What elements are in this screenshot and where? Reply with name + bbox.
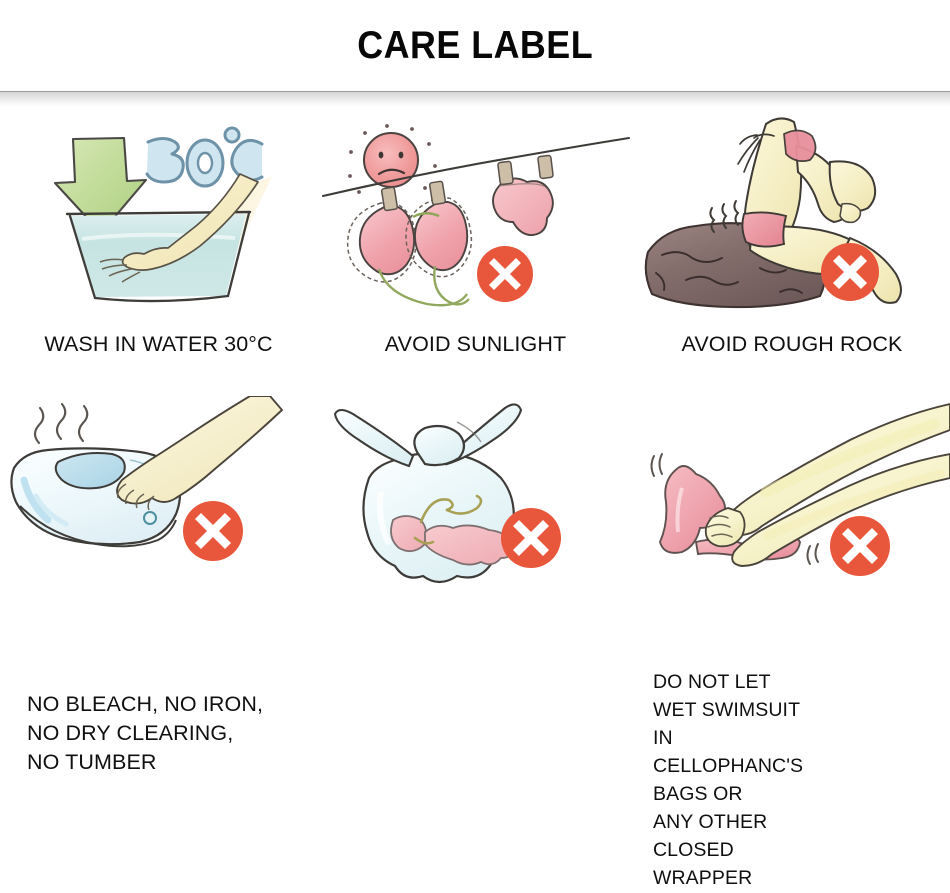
panel-let-dry-naturally: LET DRY NATURALLY & AWAYS FROM HEAT SOUR… — [634, 396, 950, 686]
panel-let-dry-naturally-art — [634, 396, 950, 596]
page-header: CARE LABEL — [0, 0, 950, 92]
prohibition-x-icon — [821, 243, 879, 301]
panel-avoid-rough-rock: AVOID ROUGH ROCK — [634, 106, 950, 396]
panel-no-bleach-no-iron-art — [0, 396, 317, 596]
bikini-bottom-icon — [493, 155, 553, 235]
panel-no-bleach-no-iron: NO BLEACH, NO IRON, NO DRY CLEARING, NO … — [0, 396, 317, 686]
panel-no-wet-swimsuit-in-bag-caption: DO NOT LET WET SWIMSUIT IN CELLOPHANC'S … — [653, 668, 803, 892]
page-title: CARE LABEL — [357, 24, 593, 68]
care-instruction-grid: WASH IN WATER 30°C — [0, 106, 950, 686]
panel-avoid-sunlight-art — [317, 106, 634, 328]
panel-no-bleach-no-iron-caption: NO BLEACH, NO IRON, NO DRY CLEARING, NO … — [27, 690, 263, 777]
panel-avoid-sunlight: AVOID SUNLIGHT — [317, 106, 634, 396]
panel-avoid-sunlight-caption: AVOID SUNLIGHT — [317, 330, 634, 359]
panel-wash-in-water-caption: WASH IN WATER 30°C — [0, 330, 317, 359]
prohibition-x-icon — [830, 516, 890, 576]
header-divider-shadow — [0, 92, 950, 106]
panel-wash-in-water: WASH IN WATER 30°C — [0, 106, 317, 396]
panel-no-wet-swimsuit-in-bag-art — [317, 396, 634, 596]
bikini-top-icon — [348, 181, 472, 305]
steam-lines-icon — [35, 404, 87, 443]
panel-avoid-rough-rock-caption: AVOID ROUGH ROCK — [634, 330, 950, 359]
sad-sun-icon — [348, 124, 437, 194]
prohibition-x-icon — [183, 501, 243, 561]
knot-icon — [335, 404, 521, 466]
panel-wash-in-water-art — [0, 106, 317, 328]
panel-no-wet-swimsuit-in-bag: DO NOT LET WET SWIMSUIT IN CELLOPHANC'S … — [317, 396, 634, 686]
header-divider — [0, 91, 950, 92]
wringing-hands-icon — [706, 404, 950, 566]
prohibition-x-icon — [501, 508, 561, 568]
panel-avoid-rough-rock-art — [634, 106, 950, 328]
prohibition-x-icon — [477, 246, 533, 302]
